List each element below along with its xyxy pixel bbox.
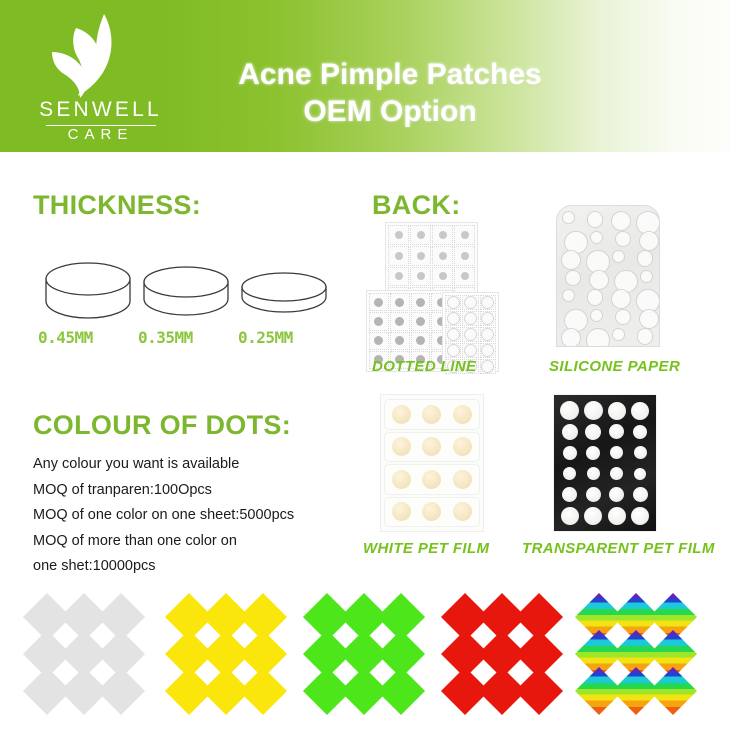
silicone-circle — [612, 328, 625, 341]
transparent-pet-film-label: TRANSPARENT PET FILM — [522, 540, 715, 557]
pet-film-dot — [584, 507, 602, 525]
silicone-circle — [640, 270, 653, 283]
colour-swatch-yellow — [172, 600, 314, 710]
colour-swatch-green — [310, 600, 452, 710]
patch-cell — [454, 267, 475, 287]
patch-dot — [481, 296, 494, 309]
moq-line-3: MOQ of more than one color on — [33, 529, 373, 555]
pet-patch — [419, 405, 445, 424]
moq-line-4: one shet:10000pcs — [33, 554, 373, 580]
patch-dot — [439, 252, 447, 260]
silicone-circle — [586, 328, 610, 347]
pet-film-dot — [563, 467, 576, 480]
patch-dot — [447, 296, 460, 309]
moq-line-0: Any colour you want is available — [33, 452, 373, 478]
patch-cell — [369, 312, 389, 330]
silicone-circle — [615, 309, 632, 326]
patch-cell — [390, 312, 410, 330]
patch-dot — [417, 272, 425, 280]
pet-patch — [449, 437, 475, 456]
silicone-circle — [590, 231, 603, 244]
colour-swatch-red — [448, 600, 590, 710]
thickness-heading: THICKNESS: — [33, 190, 201, 221]
patch-dot — [439, 231, 447, 239]
pet-film-dot — [610, 467, 623, 480]
patch-cell — [462, 327, 478, 342]
patch-dot — [447, 328, 460, 341]
page-header: SENWELL CARE Acne Pimple Patches OEM Opt… — [0, 0, 730, 152]
silicone-circle — [611, 289, 631, 309]
patch-dot — [417, 231, 425, 239]
patch-cell — [410, 246, 431, 266]
moq-line-2: MOQ of one color on one sheet:5000pcs — [33, 503, 373, 529]
patch-cell — [369, 293, 389, 311]
pet-film-dot — [585, 424, 601, 440]
pet-film-dot — [631, 507, 649, 525]
patch-dot — [395, 231, 403, 239]
silicone-paper-label: SILICONE PAPER — [549, 358, 680, 375]
patch-cell — [390, 293, 410, 311]
patch-dot — [461, 231, 469, 239]
pet-film-dot — [584, 401, 603, 420]
pet-film-dot — [609, 424, 624, 439]
thickness-label-2: 0.25MM — [238, 328, 293, 347]
pet-film-dot — [633, 487, 648, 502]
patch-cell — [445, 343, 461, 358]
colour-diamond — [97, 667, 145, 715]
colour-of-dots-text: Any colour you want is available MOQ of … — [33, 452, 373, 580]
patch-dot — [461, 272, 469, 280]
patch-dot — [395, 317, 404, 326]
pet-film-dot — [633, 425, 647, 439]
page-title: Acne Pimple Patches OEM Option — [175, 56, 605, 130]
colour-diamond — [377, 667, 425, 715]
patch-dot — [447, 344, 460, 357]
moq-line-1: MOQ of tranparen:100Opcs — [33, 478, 373, 504]
patch-cell — [411, 332, 431, 350]
patch-dot — [464, 312, 477, 325]
brand-sub-name: CARE — [28, 126, 173, 143]
pet-strip — [384, 464, 480, 495]
silicone-circle — [611, 211, 631, 231]
silicone-circle — [561, 250, 581, 270]
patch-cell — [480, 311, 496, 326]
patch-dot — [395, 252, 403, 260]
colour-of-dots-heading: COLOUR OF DOTS: — [33, 410, 291, 441]
patch-dot — [464, 344, 477, 357]
pet-film-dot — [608, 402, 626, 420]
patch-dot — [416, 317, 425, 326]
silicone-circle — [637, 328, 654, 345]
patch-dot — [374, 336, 383, 345]
silicone-circle — [590, 309, 603, 322]
pet-strip — [384, 432, 480, 463]
patch-cell — [454, 246, 475, 266]
pet-strip — [384, 497, 480, 528]
pet-film-dot — [560, 401, 579, 420]
patch-dot — [481, 312, 494, 325]
pet-film-dot — [586, 446, 600, 460]
patch-cell — [369, 332, 389, 350]
colour-diamond — [649, 667, 697, 715]
patch-cell — [388, 246, 409, 266]
pet-patch — [449, 405, 475, 424]
patch-cell — [432, 267, 453, 287]
pet-film-dot — [609, 487, 624, 502]
patch-cell — [480, 327, 496, 342]
patch-cell — [432, 225, 453, 245]
patch-dot — [416, 336, 425, 345]
pet-film-dot — [563, 446, 577, 460]
silicone-circle — [589, 270, 609, 290]
colour-swatch-clear — [30, 600, 172, 710]
patch-cell — [388, 267, 409, 287]
brand-logo: SENWELL CARE — [28, 12, 173, 142]
patch-dot — [447, 312, 460, 325]
page-title-line-1: Acne Pimple Patches — [175, 56, 605, 93]
patch-cell — [454, 225, 475, 245]
dotted-line-label: DOTTED LINE — [372, 358, 476, 375]
patch-dot — [374, 298, 383, 307]
patch-cell — [480, 295, 496, 310]
pet-patch — [449, 470, 475, 489]
patch-cell — [445, 311, 461, 326]
pet-film-dot — [562, 487, 577, 502]
pet-strip — [384, 399, 480, 430]
pet-film-dot — [587, 467, 600, 480]
white-pet-film-label: WHITE PET FILM — [363, 540, 489, 557]
patch-dot — [395, 336, 404, 345]
silicone-circle — [612, 250, 625, 263]
pet-film-dot — [562, 424, 578, 440]
patch-dot — [439, 272, 447, 280]
transparent-pet-film-photo — [553, 394, 657, 532]
pet-patch — [419, 437, 445, 456]
thickness-label-1: 0.35MM — [138, 328, 193, 347]
patch-dot — [464, 296, 477, 309]
patch-cell — [388, 225, 409, 245]
patch-cell — [445, 295, 461, 310]
pet-film-dot — [561, 507, 579, 525]
patch-dot — [481, 360, 494, 373]
patch-dot — [481, 344, 494, 357]
pet-patch — [389, 470, 415, 489]
back-heading: BACK: — [372, 190, 461, 221]
patch-cell — [462, 295, 478, 310]
patch-cell — [462, 311, 478, 326]
patch-dot — [481, 328, 494, 341]
patch-cell — [462, 343, 478, 358]
silicone-circle — [562, 289, 575, 302]
patch-cell — [411, 312, 431, 330]
pet-film-dot — [586, 487, 601, 502]
pet-patch — [419, 470, 445, 489]
thickness-disc-2 — [238, 272, 330, 320]
pet-patch — [449, 502, 475, 521]
pet-patch — [389, 502, 415, 521]
leaf-flame-logo-icon — [38, 12, 150, 98]
patch-dot — [395, 298, 404, 307]
patch-cell — [390, 332, 410, 350]
silicone-circle — [587, 289, 604, 306]
patch-dot — [395, 272, 403, 280]
pet-film-dot — [608, 507, 626, 525]
silicone-circle — [562, 211, 575, 224]
patch-dot — [417, 252, 425, 260]
pet-film-dot — [634, 468, 646, 480]
patch-cell — [432, 246, 453, 266]
silicone-circle — [615, 231, 632, 248]
pet-patch — [389, 405, 415, 424]
pet-patch — [419, 502, 445, 521]
pet-film-dot — [610, 446, 623, 459]
colour-swatch-rainbow — [582, 600, 724, 710]
page-title-line-2: OEM Option — [175, 93, 605, 130]
patch-dot — [461, 252, 469, 260]
silicone-circle — [587, 211, 604, 228]
thickness-label-0: 0.45MM — [38, 328, 93, 347]
patch-dot — [374, 317, 383, 326]
silicone-circle — [561, 328, 581, 347]
brand-name: SENWELL — [28, 98, 173, 122]
silicone-circle — [637, 250, 654, 267]
patch-cell — [480, 359, 496, 374]
silicone-circle — [639, 309, 659, 329]
pet-film-dot — [634, 446, 647, 459]
patch-cell — [411, 293, 431, 311]
silicone-circle — [565, 270, 582, 287]
silicone-circle — [639, 231, 659, 251]
patch-cell — [445, 327, 461, 342]
thickness-disc-1 — [140, 266, 232, 322]
patch-cell — [410, 225, 431, 245]
colour-diamond — [515, 667, 563, 715]
patch-dot — [464, 328, 477, 341]
pet-film-dot — [631, 402, 649, 420]
colour-diamond — [239, 667, 287, 715]
patch-cell — [410, 267, 431, 287]
white-pet-film-photo — [380, 394, 484, 532]
silicone-paper-photo — [556, 205, 660, 347]
thickness-disc-0 — [42, 262, 134, 322]
patch-dot — [416, 298, 425, 307]
pet-patch — [389, 437, 415, 456]
patch-cell — [480, 343, 496, 358]
